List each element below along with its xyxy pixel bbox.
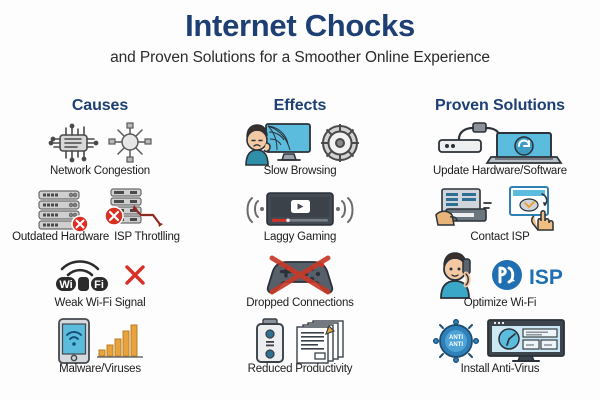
solutions-items: Update Hardware/Software	[400, 121, 600, 385]
art-dropped-connections	[200, 253, 400, 297]
art-slow-browsing	[200, 121, 400, 165]
isp-logo-text: ISP	[529, 266, 563, 289]
tablet-pointer-icon	[508, 186, 566, 232]
hand-device-icon	[434, 187, 502, 231]
caption-reduced-productivity: Reduced Productivity	[200, 363, 400, 376]
art-reduced-productivity	[200, 319, 400, 363]
item-malware-viruses[interactable]: Malware/Viruses	[0, 319, 200, 385]
item-contact-isp[interactable]: Contact ISP	[400, 187, 600, 253]
caption-laggy-gaming: Laggy Gaming	[200, 231, 400, 244]
clipboard-device-icon	[253, 318, 287, 364]
column-effects: Effects	[200, 92, 400, 400]
column-causes: Causes	[0, 92, 200, 400]
antivirus-shield-icon: ANTI ANTI	[433, 319, 479, 363]
caption-weak-wifi-signal: Weak Wi-Fi Signal	[0, 297, 200, 310]
header: Internet Chocks and Proven Solutions for…	[0, 0, 600, 67]
item-install-anti-virus[interactable]: ANTI ANTI	[400, 319, 600, 385]
caption-isp-throttling: ISP Throtlling	[114, 231, 180, 244]
caption-update-hardware-software: Update Hardware/Software	[400, 165, 600, 178]
art-update-hardware	[400, 121, 600, 165]
router-laptop-update-icon	[435, 121, 565, 165]
server-rack-error-icon	[33, 187, 95, 231]
svg-text:Fi: Fi	[94, 279, 104, 291]
video-player-buffering-icon	[241, 188, 359, 230]
art-install-antivirus: ANTI ANTI	[400, 319, 600, 363]
columns-container: Causes	[0, 92, 600, 400]
caption-dropped-connections: Dropped Connections	[200, 297, 400, 310]
wifi-logo-icon: Wi Fi	[54, 255, 118, 295]
caption-outdated-isp: Outdated Hardware ISP Throtlling	[0, 231, 196, 244]
column-proven-solutions: Proven Solutions	[400, 92, 600, 400]
caption-malware-viruses: Malware/Viruses	[0, 363, 200, 376]
tablet-wifi-icon	[57, 318, 91, 364]
gamepad-crossed-icon	[262, 254, 338, 296]
art-malware	[0, 319, 200, 363]
infographic-canvas: Internet Chocks and Proven Solutions for…	[0, 0, 600, 400]
red-x-icon	[124, 264, 146, 286]
red-x-badge	[105, 207, 123, 225]
art-network-congestion	[0, 121, 200, 165]
item-update-hardware-software[interactable]: Update Hardware/Software	[400, 121, 600, 187]
monitor-scan-icon	[485, 319, 567, 363]
frustrated-user-monitor-icon	[238, 121, 312, 165]
antivirus-badge-line1: ANTI	[449, 335, 463, 341]
red-x-badge	[72, 216, 88, 232]
caption-outdated-hardware: Outdated Hardware	[12, 231, 109, 244]
column-heading-effects: Effects	[200, 97, 400, 115]
svg-text:Wi: Wi	[59, 279, 72, 291]
art-outdated-hardware	[0, 187, 200, 231]
item-laggy-gaming[interactable]: Laggy Gaming	[200, 187, 400, 253]
effects-items: Slow Browsing	[200, 121, 400, 385]
ship-wheel-icon	[318, 121, 362, 165]
isp-logo-icon: ISP	[489, 255, 565, 295]
page-title: Internet Chocks	[0, 8, 600, 44]
art-contact-isp	[400, 187, 600, 231]
column-heading-proven-solutions: Proven Solutions	[400, 97, 600, 115]
item-network-congestion[interactable]: Network Congestion	[0, 121, 200, 187]
causes-items: Network Congestion	[0, 121, 200, 385]
document-stack-icon	[293, 318, 347, 364]
art-optimize-wifi: ISP	[400, 253, 600, 297]
caption-optimize-wifi: Optimize Wi-Fi	[400, 297, 600, 310]
page-subtitle: and Proven Solutions for a Smoother Onli…	[0, 49, 600, 67]
item-reduced-productivity[interactable]: Reduced Productivity	[200, 319, 400, 385]
antivirus-badge-line2: ANTI	[449, 342, 463, 348]
signal-bars-icon	[97, 321, 143, 361]
person-phone-call-icon	[435, 252, 483, 298]
item-outdated-hardware-isp-throttling[interactable]: Outdated Hardware ISP Throtlling	[0, 187, 200, 253]
column-heading-causes: Causes	[0, 97, 200, 115]
art-laggy-gaming	[200, 187, 400, 231]
caption-install-anti-virus: Install Anti-Virus	[400, 363, 600, 376]
isp-throttle-icon	[101, 187, 167, 231]
network-circuit-icon	[47, 122, 101, 164]
item-slow-browsing[interactable]: Slow Browsing	[200, 121, 400, 187]
item-optimize-wifi[interactable]: ISP Optimize Wi-Fi	[400, 253, 600, 319]
caption-contact-isp: Contact ISP	[400, 231, 600, 244]
caption-network-congestion: Network Congestion	[0, 165, 200, 178]
burst-node-icon	[107, 122, 153, 164]
item-weak-wifi-signal[interactable]: Wi Fi Weak Wi-Fi Signal	[0, 253, 200, 319]
caption-slow-browsing: Slow Browsing	[200, 165, 400, 178]
art-weak-wifi: Wi Fi	[0, 253, 200, 297]
item-dropped-connections[interactable]: Dropped Connections	[200, 253, 400, 319]
